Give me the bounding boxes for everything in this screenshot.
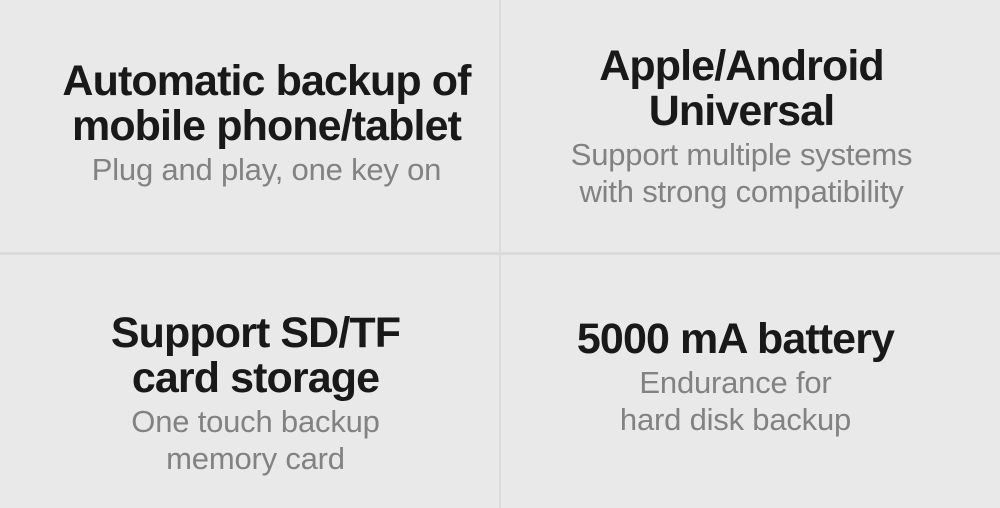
- feature-text-block: Support SD/TF card storage One touch bac…: [111, 311, 400, 477]
- feature-cell-sd-tf-card-storage: Support SD/TF card storage One touch bac…: [0, 255, 499, 507]
- feature-cell-automatic-backup: Automatic backup of mobile phone/tablet …: [0, 0, 499, 252]
- feature-text-block: Apple/Android Universal Support multiple…: [571, 44, 913, 210]
- feature-title: Support SD/TF card storage: [111, 311, 400, 401]
- feature-subtitle: Plug and play, one key on: [92, 151, 441, 188]
- feature-text-block: Automatic backup of mobile phone/tablet …: [62, 59, 470, 188]
- feature-subtitle: Support multiple systems with strong com…: [571, 136, 913, 210]
- feature-text-block: 5000 mA battery Endurance for hard disk …: [577, 317, 894, 438]
- feature-subtitle: Endurance for hard disk backup: [620, 364, 851, 438]
- feature-cell-battery-capacity: 5000 mA battery Endurance for hard disk …: [501, 255, 1000, 507]
- feature-title: Apple/Android Universal: [599, 44, 884, 134]
- grid-divider-horizontal: [0, 252, 1000, 255]
- feature-title: Automatic backup of mobile phone/tablet: [62, 59, 470, 149]
- feature-subtitle: One touch backup memory card: [131, 403, 379, 477]
- feature-cell-apple-android-universal: Apple/Android Universal Support multiple…: [501, 0, 1000, 252]
- feature-title: 5000 mA battery: [577, 317, 894, 362]
- feature-grid: Automatic backup of mobile phone/tablet …: [0, 0, 1000, 508]
